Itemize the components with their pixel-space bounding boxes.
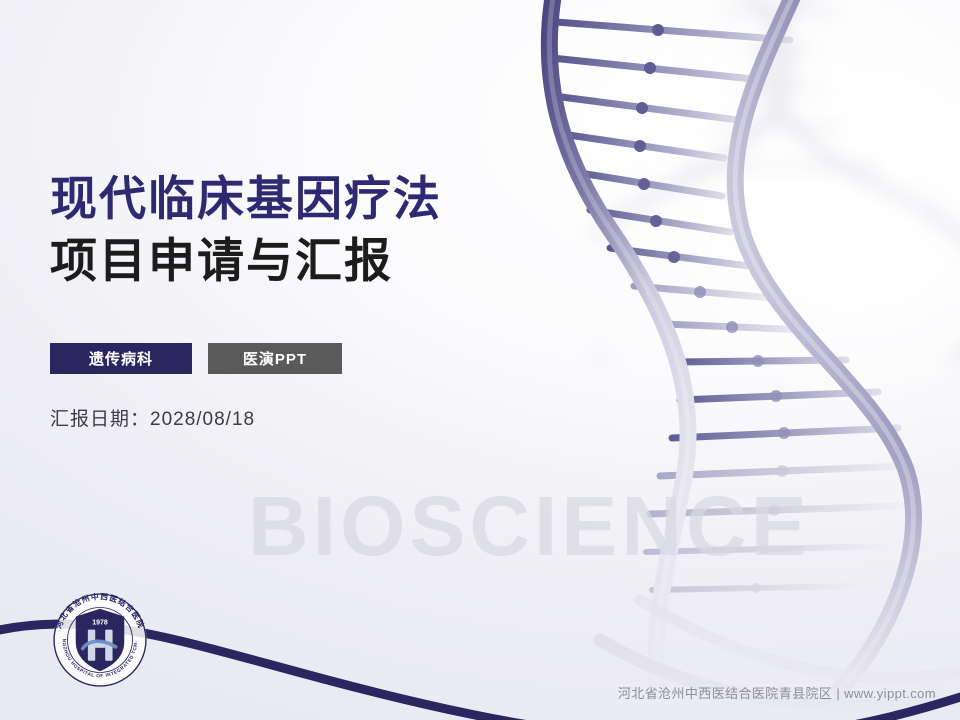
hospital-logo: 河北省沧州中西医结合医院 CANGZHOU HOSPITAL OF INTEGR… [48, 588, 152, 692]
footer-text: 河北省沧州中西医结合医院青县院区 | www.yippt.com [618, 683, 936, 702]
page-title-line-1: 现代临床基因疗法 [50, 168, 570, 230]
page-title-line-2: 项目申请与汇报 [50, 230, 570, 292]
badge-group: 遗传病科 医演PPT [50, 343, 342, 374]
report-date: 汇报日期：2028/08/18 [50, 404, 255, 431]
background-ghost-helix-icon [595, 0, 960, 360]
template-badge: 医演PPT [208, 343, 342, 374]
logo-year: 1978 [92, 619, 108, 626]
department-badge: 遗传病科 [50, 343, 192, 374]
title-block: 现代临床基因疗法 项目申请与汇报 [50, 168, 570, 292]
presentation-slide: BIOSCIENCE 现代临床基因疗法 项目申请与汇报 遗传病科 医演PPT 汇… [0, 0, 960, 720]
